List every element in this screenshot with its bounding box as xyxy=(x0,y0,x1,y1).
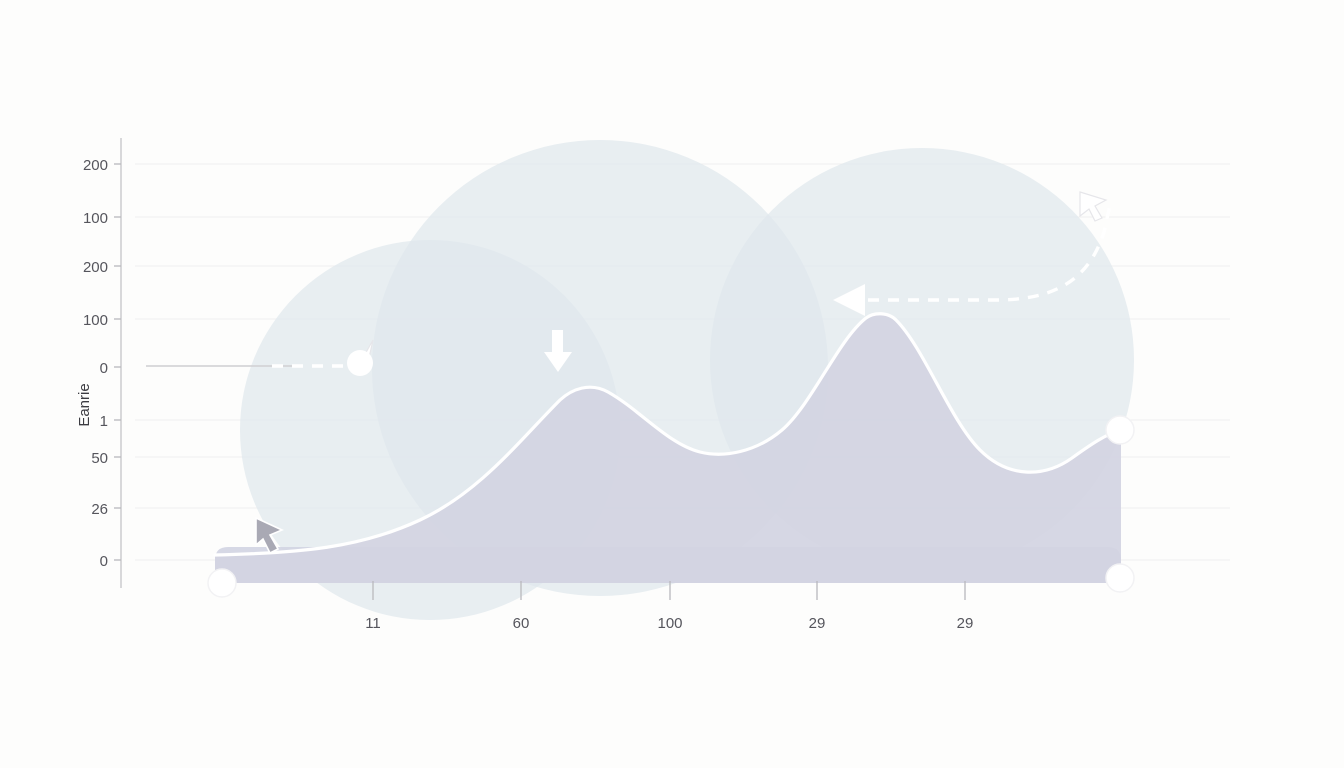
arrow-left-upper xyxy=(833,284,865,316)
marker-dot-left[interactable] xyxy=(347,340,373,376)
handle-right-bottom[interactable] xyxy=(1106,564,1134,592)
handle-bottom-left[interactable] xyxy=(208,569,236,597)
handle-right-top[interactable] xyxy=(1106,416,1134,444)
annotation-layer xyxy=(0,0,1344,768)
cursor-bottom-left xyxy=(256,518,282,553)
cursor-top-right xyxy=(1080,192,1106,221)
chart-canvas: 200 100 200 100 0 1 50 26 0 Eanrie 11 60… xyxy=(0,0,1344,768)
dashed-curve-right xyxy=(868,205,1110,300)
arrow-down-middle xyxy=(544,330,572,372)
